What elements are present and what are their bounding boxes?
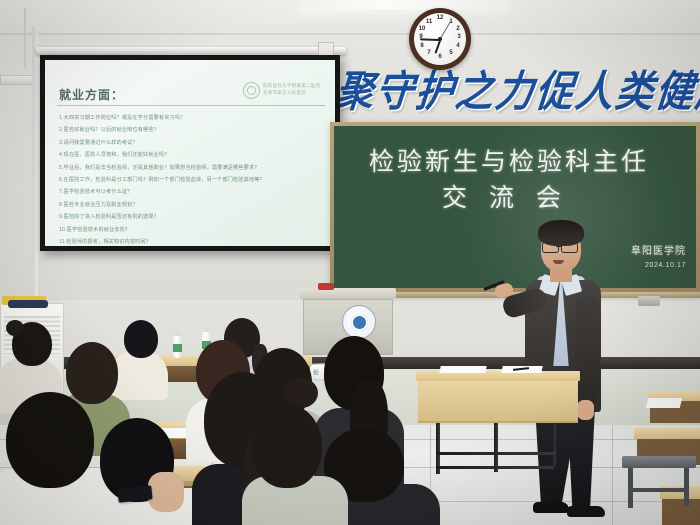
slide-list-item: 1.大四实习期工作岗位吗？或是在学分需要有实习吗？ <box>59 116 331 121</box>
emblem-core <box>351 314 368 331</box>
blackboard-title-line-1: 检验新生与检验科主任 <box>369 142 649 178</box>
slide-title: 就业方面： <box>59 86 124 103</box>
slide-list-item: 8.医检专业就业压力及职业规划？ <box>59 203 331 208</box>
slide-hospital-logo: 皖南医科大学附属第二医院 芜湖市第五人民医院 <box>243 80 329 100</box>
slide-question-list: 1.大四实习期工作岗位吗？或是在学分需要有实习吗？ 2.医检好就业吗？以后的就业… <box>59 116 331 246</box>
clock-number: 3 <box>455 34 463 40</box>
hospital-logo-icon <box>243 82 260 99</box>
clock-number: 2 <box>454 26 462 32</box>
presenter-arm-right <box>575 296 599 404</box>
clock-number: 11 <box>425 19 433 25</box>
slide-list-item: 5.毕业后，我们是去当检验师，还是其他职业？如果想当检验师，需要满足哪些要求？ <box>59 166 331 171</box>
student-hair-bun <box>6 320 24 336</box>
slide-list-item: 9.医检除了进入检验科是否还有别的选择？ <box>59 215 331 220</box>
list-item <box>246 404 342 525</box>
classroom-photo: 心聚守护之力促人类健康 12 3 6 9 1 2 4 5 7 8 10 11 就… <box>0 0 700 525</box>
blackboard-signature: 阜阳医学院 <box>631 242 686 257</box>
clock-number: 4 <box>454 43 462 49</box>
ceiling-pipe <box>24 8 26 68</box>
slide-list-item: 10.医学检验技术的就业去向？ <box>59 228 331 233</box>
presenter-shoe-right <box>567 506 605 517</box>
clock-face: 12 3 6 9 1 2 4 5 7 8 10 11 <box>414 13 466 65</box>
wall-clock: 12 3 6 9 1 2 4 5 7 8 10 11 <box>409 8 471 70</box>
chalk-holder <box>638 296 660 306</box>
wall-shelf <box>0 75 34 85</box>
blackboard-title-line-2: 交 流 会 <box>442 178 568 214</box>
slide-list-item: 3.请问我需要通过什么样的考试？ <box>59 141 331 146</box>
wall-banner: 心聚守护之力促人类健康 <box>318 58 700 118</box>
blackboard-date: 2024.10.17 <box>631 262 686 269</box>
logo-line-2: 芜湖市第五人民医院 <box>263 90 321 97</box>
glasses-lens-right <box>561 242 578 253</box>
student-head <box>6 392 94 488</box>
paper-sheet <box>646 398 682 408</box>
slide-list-item: 7.医学检验技术可以考什么证？ <box>59 190 331 195</box>
lectern-top <box>300 288 396 299</box>
presentation-slide: 就业方面： 皖南医科大学附属第二医院 芜湖市第五人民医院 1.大四实习期工作岗位… <box>45 60 335 246</box>
desk-leg <box>552 416 556 466</box>
glasses-lens-left <box>542 242 559 253</box>
ceiling-light <box>300 0 510 9</box>
university-emblem-icon <box>342 305 376 339</box>
bench-leg <box>684 468 689 506</box>
projection-screen-roller <box>36 47 346 55</box>
clock-center-pin <box>438 37 442 41</box>
presenter-hand-right <box>577 400 594 420</box>
paper-sheet <box>439 366 486 373</box>
glasses-bridge <box>556 246 562 247</box>
clock-number: 10 <box>418 26 426 32</box>
desk-leg-rail <box>436 452 556 455</box>
clock-number: 6 <box>436 54 444 60</box>
blackboard-signature-block: 阜阳医学院 2024.10.17 <box>631 242 686 269</box>
student-head <box>252 404 322 488</box>
slide-divider <box>57 105 325 106</box>
desk-top <box>634 428 700 439</box>
door-jamb <box>32 26 38 326</box>
clock-number: 5 <box>447 50 455 56</box>
presenter-shoe-left <box>533 502 569 513</box>
lectern-red-button[interactable] <box>318 283 334 290</box>
clock-hour-hand <box>434 40 441 54</box>
logo-line-1: 皖南医科大学附属第二医院 <box>263 83 321 90</box>
ceiling-seam <box>0 33 700 35</box>
lecture-desk <box>418 381 578 423</box>
slide-list-item: 4.现在医、医院人员饱和，我们还能好就业吗？ <box>59 153 331 158</box>
bench <box>622 456 696 468</box>
desk-side <box>662 499 700 525</box>
clock-number: 8 <box>418 43 426 49</box>
slide-list-item: 2.医检好就业吗？以后的就业岗位有哪些？ <box>59 128 331 133</box>
desk-leg-rail <box>436 466 554 469</box>
wall-banner-text: 心聚守护之力促人类健康 <box>293 57 700 119</box>
slide-list-item: 11.检验师的报考，相关知识内容时间？ <box>59 240 331 245</box>
student-hand <box>148 472 184 512</box>
projection-screen: 就业方面： 皖南医科大学附属第二医院 芜湖市第五人民医院 1.大四实习期工作岗位… <box>40 55 340 251</box>
bench-leg-rail <box>628 488 686 492</box>
desk-leg <box>494 418 498 472</box>
bag-on-ac <box>8 300 48 308</box>
clock-number: 7 <box>425 50 433 56</box>
clock-number: 12 <box>436 15 444 21</box>
slide-list-item: 6.在医院工作，检验科是分工部门吗？例如一个部门检验血液，另一个部门检验其他等？ <box>59 178 331 183</box>
